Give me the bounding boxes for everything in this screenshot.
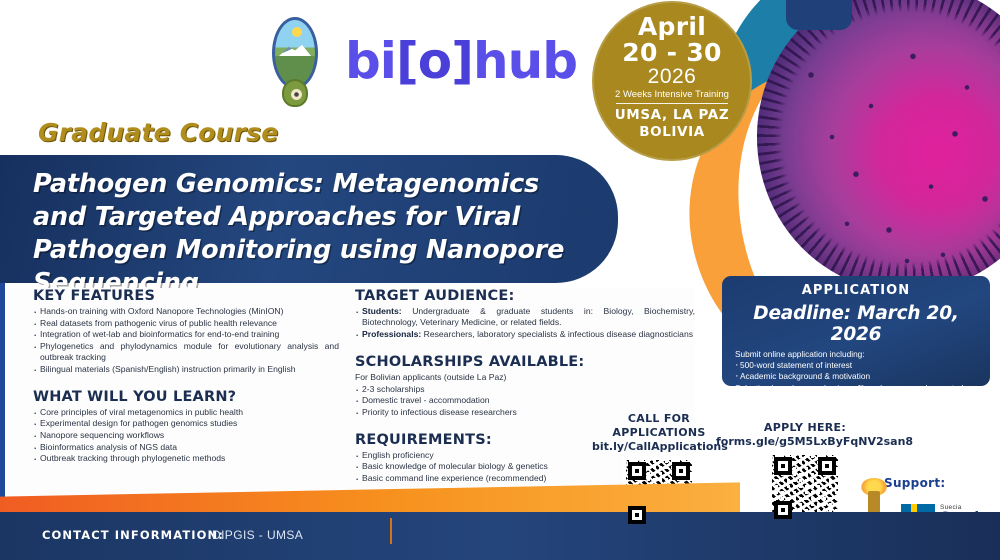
scholarships-intro: For Bolivian applicants (outside La Paz) [355, 372, 695, 383]
list-item: Domestic travel - accommodation [355, 395, 695, 406]
list-learn: Core principles of viral metagenomics in… [33, 407, 339, 465]
footer-divider [390, 518, 392, 544]
list-item: Nanopore sequencing workflows [33, 430, 339, 441]
umsa-seal-icon [268, 17, 322, 109]
heading-what-will-you-learn: WHAT WILL YOU LEARN? [33, 389, 339, 405]
audience-text: Researchers, laboratory specialists & in… [421, 329, 693, 339]
list-item: 2-3 scholarships [355, 384, 695, 395]
poster-canvas: bi[o]hub April 20 - 30 2026 2 Weeks Inte… [0, 0, 1000, 560]
list-item: Core principles of viral metagenomics in… [33, 407, 339, 418]
contact-label: CONTACT INFORMATION: [42, 528, 224, 542]
date-year: 2026 [592, 65, 752, 89]
list-item: Bioinformatics analysis of NGS data [33, 442, 339, 453]
column-left: KEY FEATURES Hands-on training with Oxfo… [33, 288, 339, 465]
qr-url-apply[interactable]: forms.gle/g5M5LxByFqNV2san8 [716, 435, 894, 448]
biohub-logo: bi[o]hub [345, 36, 577, 86]
title-band: Pathogen Genomics: Metagenomics and Targ… [0, 155, 618, 283]
qr-caption-line1: CALL FOR [592, 412, 726, 426]
biohub-logo-part3: hub [473, 32, 577, 90]
list-item: Bilingual materials (Spanish/English) in… [33, 364, 339, 375]
audience-label: Students: [362, 306, 402, 316]
navy-tab-decoration [786, 0, 852, 30]
qr-caption-apply: APPLY HERE: [716, 421, 894, 435]
kicker-graduate-course: Graduate Course [38, 118, 278, 147]
heading-scholarships: SCHOLARSHIPS AVAILABLE: [355, 354, 695, 370]
application-bullet: Academic background & motivation [735, 371, 977, 382]
list-item: Students: Undergraduate & graduate stude… [355, 306, 695, 328]
application-note: Selection based on academic profile, rel… [735, 383, 977, 405]
heading-key-features: KEY FEATURES [33, 288, 339, 304]
date-city: UMSA, LA PAZ [592, 107, 752, 124]
support-label: Support: [884, 476, 945, 490]
qr-caption-line2: APPLICATIONS [592, 426, 726, 440]
list-key-features: Hands-on training with Oxford Nanopore T… [33, 306, 339, 375]
audience-text: Undergraduate & graduate students in: Bi… [362, 306, 695, 327]
list-item: Real datasets from pathogenic virus of p… [33, 318, 339, 329]
contact-value: DIPGIS - UMSA [212, 528, 303, 542]
application-title: APPLICATION [735, 283, 977, 298]
application-deadline: Deadline: March 20, 2026 [735, 303, 977, 345]
list-item: Professionals: Researchers, laboratory s… [355, 329, 695, 340]
list-item: Hands-on training with Oxford Nanopore T… [33, 306, 339, 317]
list-item: Phylogenetics and phylodynamics module f… [33, 341, 339, 363]
list-item: Integration of wet-lab and bioinformatic… [33, 329, 339, 340]
biohub-logo-part2: [o] [396, 32, 473, 90]
date-month: April [592, 14, 752, 40]
date-badge: April 20 - 30 2026 2 Weeks Intensive Tra… [592, 1, 752, 161]
date-country: BOLIVIA [592, 124, 752, 141]
application-box: APPLICATION Deadline: March 20, 2026 Sub… [722, 276, 990, 386]
application-body: Submit online application including: 500… [735, 349, 977, 405]
page-title: Pathogen Genomics: Metagenomics and Targ… [0, 155, 618, 301]
application-bullet: 500-word statement of interest [735, 360, 977, 371]
list-item: Experimental design for pathogen genomic… [33, 418, 339, 429]
biohub-logo-part1: bi [345, 32, 396, 90]
date-subtitle: 2 Weeks Intensive Training [592, 89, 752, 103]
date-days: 20 - 30 [592, 40, 752, 66]
qr-url-call[interactable]: bit.ly/CallApplications [592, 440, 726, 453]
list-item: Outbreak tracking through phylogenetic m… [33, 453, 339, 464]
date-divider [616, 103, 728, 105]
audience-label: Professionals: [362, 329, 421, 339]
list-target-audience: Students: Undergraduate & graduate stude… [355, 306, 695, 340]
heading-target-audience: TARGET AUDIENCE: [355, 288, 695, 304]
application-intro: Submit online application including: [735, 349, 977, 360]
